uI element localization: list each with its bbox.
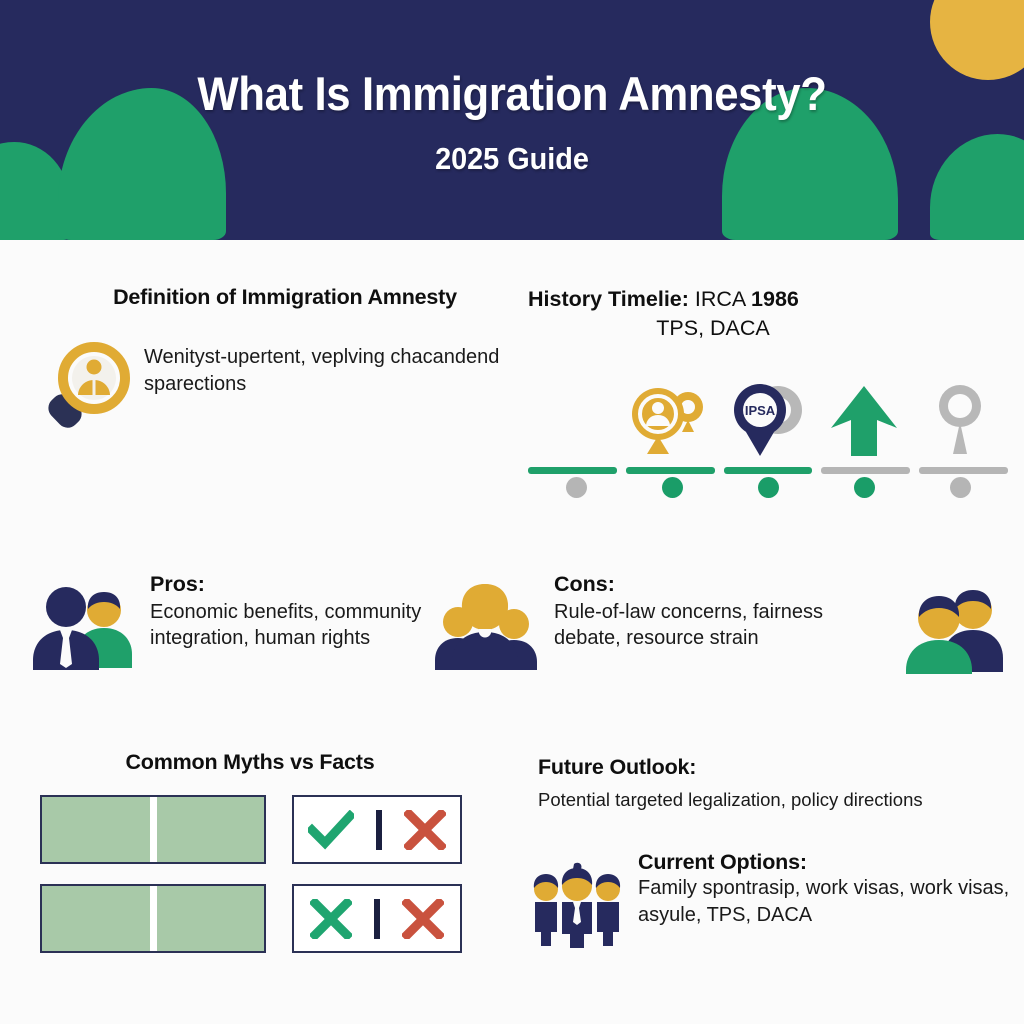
gray-outline-pin-icon [935, 382, 985, 463]
definition-body: Wenityst-upertent, veplving chacandend s… [144, 338, 530, 397]
table-row [40, 795, 460, 864]
cons-section: Cons: Rule-of-law concerns, fairness deb… [432, 570, 1007, 679]
cons-label: Cons: [554, 572, 615, 596]
timeline-segment [626, 467, 715, 474]
cell-divider [374, 899, 380, 939]
cross-icon [402, 899, 444, 939]
current-options-row: Current Options: Family spontrasip, work… [530, 850, 1010, 953]
cross-icon [404, 810, 446, 850]
timeline-segment [528, 467, 617, 474]
timeline-dot-slot [624, 477, 720, 498]
cons-label-line: Cons: [554, 570, 895, 599]
cons-body: Rule-of-law concerns, fairness debate, r… [554, 599, 895, 652]
timeline-dot [758, 477, 779, 498]
timeline-dot-slot [816, 477, 912, 498]
timeline-dot-slot [528, 477, 624, 498]
history-heading-label: History Timelie: [528, 287, 689, 311]
history-timeline: IPSA [528, 377, 1008, 497]
page-subtitle: 2025 Guide [36, 121, 988, 177]
timeline-dot [854, 477, 875, 498]
pros-section: Pros: Economic benefits, community integ… [30, 570, 450, 677]
pros-row: Pros: Economic benefits, community integ… [30, 570, 450, 677]
myth-marks-cell [292, 884, 462, 953]
check-icon [308, 810, 354, 850]
pros-body: Economic benefits, community integration… [150, 599, 450, 652]
history-heading-year: 1986 [751, 287, 799, 311]
ipsa-pin-icon: IPSA [728, 382, 808, 463]
myths-section: Common Myths vs Facts [40, 750, 460, 973]
current-options-section: Current Options: Family spontrasip, work… [530, 850, 1010, 953]
timeline-segment [724, 467, 813, 474]
definition-heading: Definition of Immigration Amnesty [40, 285, 530, 310]
timeline-icon-row: IPSA [528, 377, 1008, 463]
pros-label-line: Pros: [150, 570, 450, 599]
future-outlook-body: Potential targeted legalization, policy … [538, 788, 1008, 813]
three-people-group-icon [530, 850, 624, 953]
history-heading: History Timelie: IRCA 1986 TPS, DACA [528, 285, 1008, 343]
history-section: History Timelie: IRCA 1986 TPS, DACA [528, 285, 1008, 497]
timeline-dot-row [528, 477, 1008, 498]
timeline-segment [821, 467, 910, 474]
timeline-marker-slot [912, 377, 1008, 463]
pros-label: Pros: [150, 572, 205, 596]
timeline-marker-slot [816, 377, 912, 463]
myths-table [40, 795, 460, 953]
pros-text: Pros: Economic benefits, community integ… [138, 570, 450, 652]
two-people-icon [30, 570, 138, 677]
timeline-track [528, 467, 1008, 474]
timeline-dot-slot [912, 477, 1008, 498]
timeline-dot [566, 477, 587, 498]
magnifier-person-icon [40, 338, 144, 439]
myth-marks-cell [292, 795, 462, 864]
myths-heading: Common Myths vs Facts [40, 750, 460, 775]
header-text-group: What Is Immigration Amnesty? 2025 Guide [0, 0, 1024, 177]
current-options-text: Current Options: Family spontrasip, work… [624, 850, 1010, 928]
timeline-marker-slot [528, 377, 624, 463]
three-people-blonde-icon [432, 570, 540, 677]
history-heading-line2: TPS, DACA [528, 314, 1008, 343]
current-options-label: Current Options: [638, 850, 1010, 875]
page-title: What Is Immigration Amnesty? [36, 0, 988, 121]
timeline-marker-slot [624, 377, 720, 463]
cons-row: Cons: Rule-of-law concerns, fairness deb… [432, 570, 1007, 679]
cross-green-icon [310, 899, 352, 939]
current-options-body: Family spontrasip, work visas, work visa… [638, 875, 1010, 928]
ipsa-pin-label: IPSA [745, 403, 776, 418]
history-heading-line1: History Timelie: IRCA 1986 [528, 285, 1008, 314]
timeline-marker-slot: IPSA [720, 377, 816, 463]
table-row [40, 884, 460, 953]
history-heading-act: IRCA [689, 287, 751, 311]
cell-divider [376, 810, 382, 850]
future-outlook-label: Future Outlook: [538, 755, 1008, 780]
infographic-header: What Is Immigration Amnesty? 2025 Guide [0, 0, 1024, 240]
myth-fact-bar [40, 795, 266, 864]
timeline-dot [662, 477, 683, 498]
green-up-arrow-icon [829, 382, 899, 463]
timeline-segment [919, 467, 1008, 474]
infographic-body: Definition of Immigration Amnesty Wenity… [0, 240, 1024, 1024]
myth-fact-bar [40, 884, 266, 953]
two-people-icon [901, 570, 1007, 679]
future-outlook-section: Future Outlook: Potential targeted legal… [538, 755, 1008, 813]
definition-content-row: Wenityst-upertent, veplving chacandend s… [40, 338, 530, 439]
timeline-dot [950, 477, 971, 498]
definition-section: Definition of Immigration Amnesty Wenity… [40, 285, 530, 439]
timeline-dot-slot [720, 477, 816, 498]
gold-person-pin-icon [630, 386, 714, 463]
cons-text: Cons: Rule-of-law concerns, fairness deb… [540, 570, 901, 652]
